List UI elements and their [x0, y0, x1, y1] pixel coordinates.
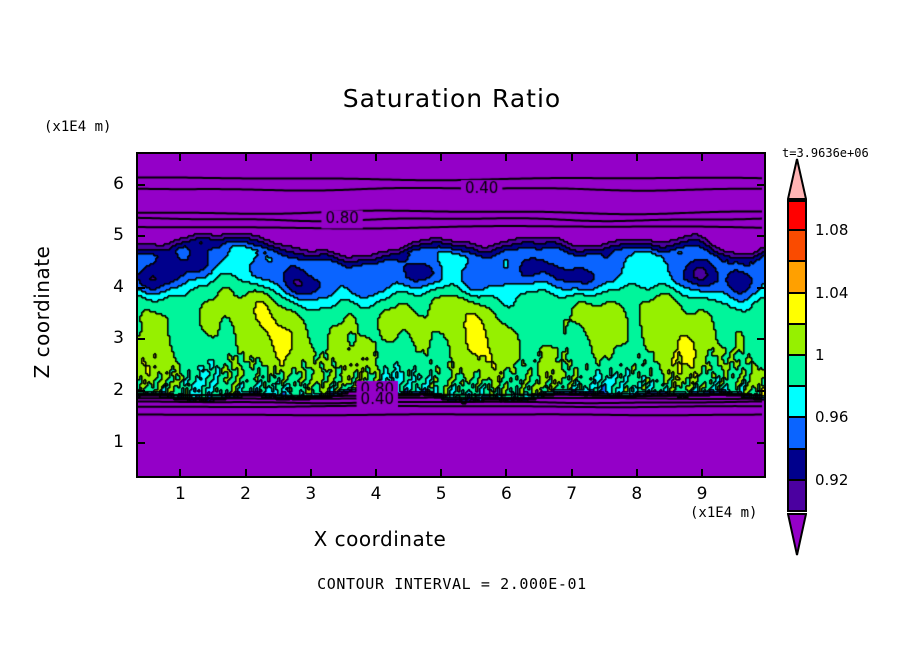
colorbar-band: [787, 231, 807, 262]
colorbar-tick-label: 0.92: [815, 471, 848, 489]
x-axis-tick: [245, 469, 247, 476]
y-axis-tick: [138, 338, 145, 340]
y-axis-tick: [757, 235, 764, 237]
contour-plot-area: [136, 152, 766, 478]
x-axis-tick-label: 5: [426, 484, 456, 504]
x-axis-tick-label: 8: [622, 484, 652, 504]
colorbar-over-arrow: [787, 158, 807, 200]
colorbar-band: [787, 262, 807, 293]
x-axis-tick-label: 9: [687, 484, 717, 504]
y-axis-title: Z coordinate: [30, 212, 54, 412]
y-axis-tick-label: 5: [104, 225, 124, 245]
colorbar-band: [787, 450, 807, 481]
x-axis-tick: [179, 469, 181, 476]
y-axis-tick: [757, 287, 764, 289]
colorbar-band: [787, 356, 807, 387]
y-axis-tick: [138, 235, 145, 237]
colorbar-tick-label: 1.08: [815, 221, 848, 239]
x-axis-tick: [440, 469, 442, 476]
x-axis-title: X coordinate: [0, 527, 760, 551]
y-axis-tick-label: 3: [104, 328, 124, 348]
x-axis-tick-label: 3: [296, 484, 326, 504]
x-axis-tick: [701, 154, 703, 161]
x-axis-tick: [571, 469, 573, 476]
colorbar-under-arrow: [787, 512, 807, 556]
y-axis-tick-label: 1: [104, 432, 124, 452]
x-axis-tick: [636, 154, 638, 161]
colorbar-band: [787, 325, 807, 356]
y-axis-tick: [138, 287, 145, 289]
x-axis-tick-label: 6: [491, 484, 521, 504]
x-axis-tick: [310, 154, 312, 161]
y-axis-tick: [757, 184, 764, 186]
y-axis-unit-label: (x1E4 m): [44, 119, 111, 135]
colorbar-tick-label: 1: [815, 346, 825, 364]
colorbar-band: [787, 418, 807, 449]
y-axis-tick: [138, 390, 145, 392]
x-axis-tick-label: 7: [557, 484, 587, 504]
x-axis-tick: [571, 154, 573, 161]
x-axis-tick: [440, 154, 442, 161]
colorbar-band: [787, 200, 807, 231]
y-axis-tick: [138, 442, 145, 444]
x-axis-tick: [636, 469, 638, 476]
y-axis-tick: [757, 442, 764, 444]
y-axis-tick: [757, 390, 764, 392]
y-axis-tick: [757, 338, 764, 340]
y-axis-tick-label: 6: [104, 174, 124, 194]
x-axis-unit-label: (x1E4 m): [690, 505, 757, 521]
x-axis-tick: [245, 154, 247, 161]
y-axis-tick-label: 4: [104, 277, 124, 297]
colorbar: 1.081.0410.960.92: [787, 200, 807, 512]
x-axis-tick-label: 4: [361, 484, 391, 504]
colorbar-band: [787, 481, 807, 512]
y-axis-tick-label: 2: [104, 380, 124, 400]
page-title: Saturation Ratio: [0, 84, 904, 113]
contour-interval-caption: CONTOUR INTERVAL = 2.000E-01: [0, 575, 904, 593]
x-axis-tick-label: 2: [231, 484, 261, 504]
colorbar-tick-label: 0.96: [815, 408, 848, 426]
x-axis-tick: [310, 469, 312, 476]
y-axis-tick: [138, 184, 145, 186]
x-axis-tick-label: 1: [165, 484, 195, 504]
colorbar-tick-label: 1.04: [815, 284, 848, 302]
x-axis-tick: [505, 154, 507, 161]
saturation-field-canvas: [138, 154, 764, 476]
colorbar-band: [787, 294, 807, 325]
x-axis-tick: [375, 154, 377, 161]
x-axis-tick: [179, 154, 181, 161]
colorbar-band: [787, 387, 807, 418]
x-axis-tick: [701, 469, 703, 476]
x-axis-tick: [505, 469, 507, 476]
x-axis-tick: [375, 469, 377, 476]
